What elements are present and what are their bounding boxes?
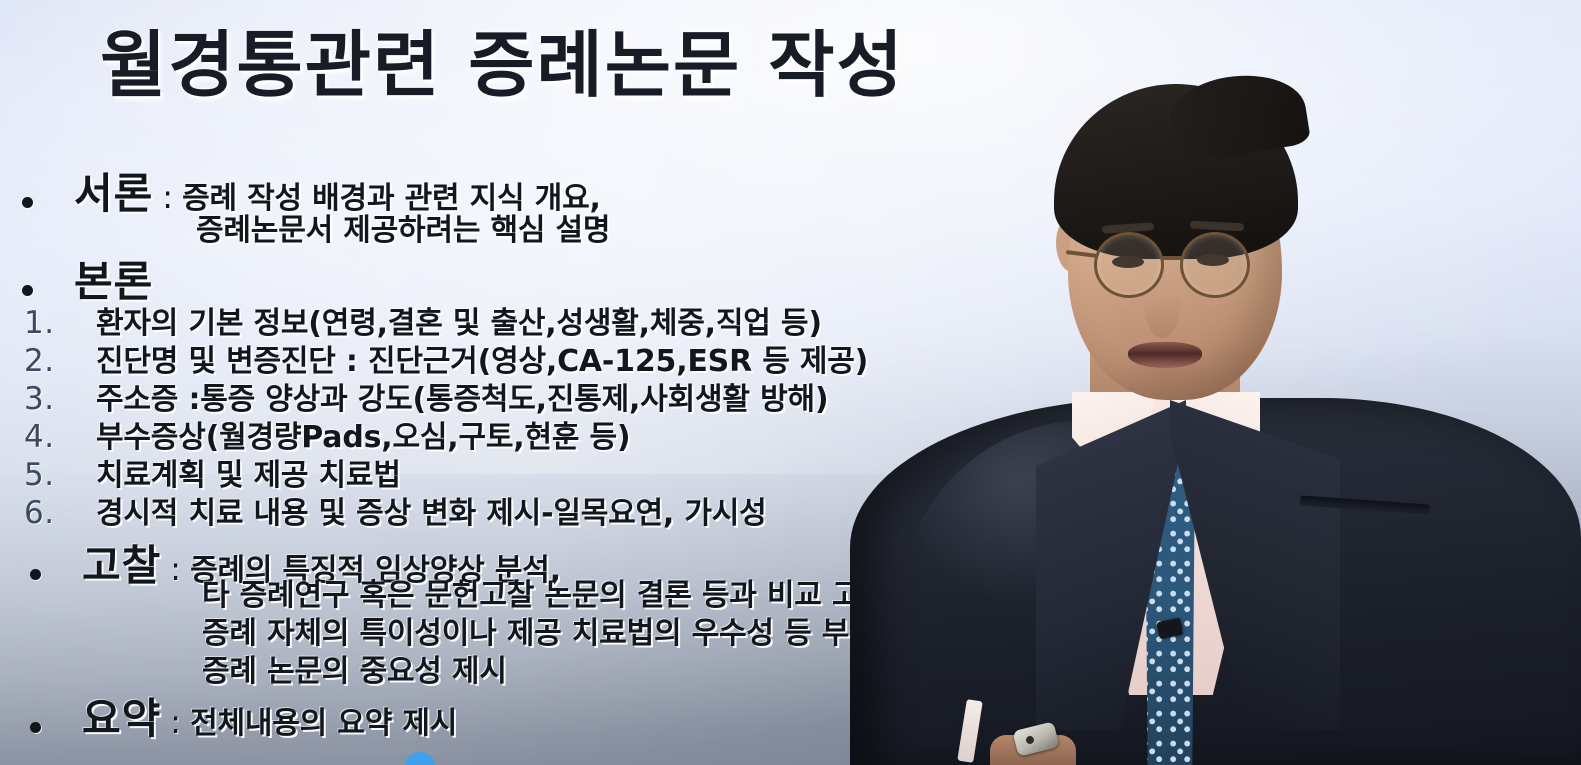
- glasses-lens-right: [1180, 232, 1250, 298]
- list-text-6: 경시적 치료 내용 및 증상 변화 제시-일목요연, 가시성: [96, 488, 767, 532]
- slide-section-gochal-cont: 증례 논문의 중요성 제시: [202, 646, 507, 690]
- section-head-yoyak: 요약: [82, 685, 161, 746]
- bullet-dot-icon: [30, 722, 41, 733]
- video-frame: 월경통관련 증례논문 작성 서론 : 증례 작성 배경과 관련 지식 개요, 증…: [0, 0, 1581, 765]
- bullet-dot-icon: [22, 197, 33, 208]
- section-colon-gochal: :: [161, 550, 190, 588]
- slide-section-yoyak: 요약 : 전체내용의 요약 제시: [30, 685, 457, 746]
- slide-title: 월경통관련 증례논문 작성: [100, 6, 905, 111]
- section-colon-yoyak: :: [161, 703, 190, 741]
- section-head-seoron: 서론: [74, 160, 153, 221]
- glasses-bridge: [1162, 256, 1182, 260]
- list-item: 6. 경시적 치료 내용 및 증상 변화 제시-일목요연, 가시성: [24, 488, 767, 532]
- section-line-gochal-4: 증례 논문의 중요성 제시: [202, 646, 507, 690]
- presenter-nose: [1144, 268, 1180, 338]
- bullet-dot-icon: [22, 285, 33, 296]
- bullet-dot-icon: [30, 569, 41, 580]
- section-colon-seoron: :: [153, 178, 182, 216]
- section-head-gochal: 고찰: [82, 532, 161, 593]
- slide-section-seoron-cont: 증례논문서 제공하려는 핵심 설명: [196, 205, 610, 249]
- list-number-6: 6.: [24, 495, 96, 531]
- presenter-hair-sweep: [1165, 66, 1312, 164]
- presenter-chin: [1112, 360, 1220, 406]
- presenter: [840, 0, 1581, 765]
- section-line-seoron-2: 증례논문서 제공하려는 핵심 설명: [196, 205, 610, 249]
- section-line-yoyak-1: 전체내용의 요약 제시: [190, 698, 457, 742]
